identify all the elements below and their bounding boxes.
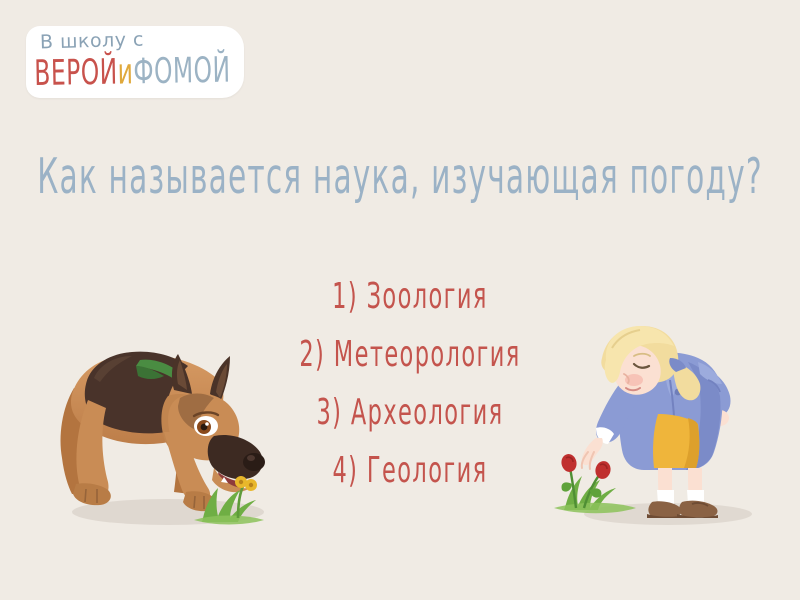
question-title: Как называется наука, изучающая погоду? (12, 148, 788, 206)
logo-tagline: В школу с (40, 29, 144, 54)
flower-leaf-girl-1 (561, 482, 572, 491)
dog-illustration (28, 332, 290, 532)
girl-illustration (548, 318, 770, 528)
brand-logo-badge[interactable]: В школу с ВЕРОЙиФОМОЙ (26, 26, 244, 98)
girl-hand-near (582, 438, 603, 465)
dog-nose (243, 453, 265, 471)
dog-nose-highlight (247, 455, 255, 461)
logo-word-verой: ВЕРОЙ (34, 53, 118, 95)
logo-word-and: и (117, 52, 133, 93)
flower-center-dog-2 (249, 483, 253, 487)
slide-canvas: В школу с ВЕРОЙиФОМОЙ Как называется нау… (0, 0, 800, 600)
dog-paw-toe-line-1 (194, 496, 195, 508)
dog-hind-toe-1 (85, 489, 86, 502)
logo-word-fomoy: ФОМОЙ (133, 51, 231, 93)
dog-eye-glint (205, 422, 209, 426)
logo-title: ВЕРОЙиФОМОЙ (34, 51, 231, 95)
flower-bloom-girl-1 (560, 453, 578, 474)
flower-center-dog-1 (239, 480, 243, 484)
